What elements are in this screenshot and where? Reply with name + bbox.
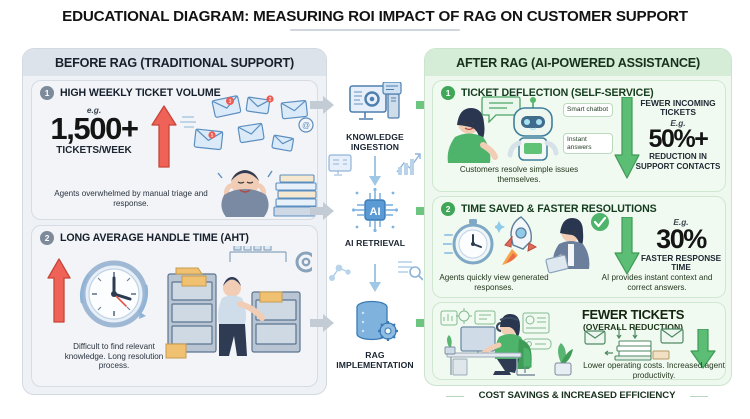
dashboard-icon [327,152,353,178]
arrow-right-gray-icon [310,202,334,220]
filing-cabinet-icon [160,246,312,366]
chip-instant-answers: Instant answers [563,133,613,154]
paper-stack-icon [583,327,687,361]
title-underline [290,29,460,31]
before-rag-header: BEFORE RAG (TRADITIONAL SUPPORT) [23,49,326,76]
pipeline-step-ai-retrieval: AI AI RETRIEVAL [327,188,423,249]
stat-sub: FASTER RESPONSE TIME [639,254,723,273]
card-time-saved: 2 TIME SAVED & FASTER RESOLUTIONS [432,196,726,298]
card-caption-right: AI provides instant context and correct … [591,273,723,292]
chart-icon [395,150,423,178]
card-fewer-tickets: FEWER TICKETS (OVERALL REDUCTION) [432,302,726,380]
diagram-canvas: EDUCATIONAL DIAGRAM: MEASURING ROI IMPAC… [0,0,750,419]
pipeline-step-knowledge-ingestion: KNOWLEDGE INGESTION [327,82,423,153]
arrow-right-gray-icon [310,314,334,332]
svg-text:@: @ [302,121,310,130]
rocket-icon [495,215,539,267]
before-rag-panel: BEFORE RAG (TRADITIONAL SUPPORT) 1 HIGH … [22,48,327,395]
check-badge-icon [589,211,611,233]
chatbot-icon [505,97,561,163]
footer-text: COST SAVINGS & INCREASED EFFICIENCY [479,390,676,401]
stat-headline: FEWER INCOMING TICKETS [633,99,723,117]
page-title-block: EDUCATIONAL DIAGRAM: MEASURING ROI IMPAC… [0,8,750,31]
card-long-handle-time: 2 LONG AVERAGE HANDLE TIME (AHT) [31,225,318,387]
svg-text:5: 5 [211,133,214,139]
clock-icon [72,252,156,336]
up-arrow-red-icon [46,258,72,324]
chevron-down-icon [369,282,381,292]
card-title-row: 2 LONG AVERAGE HANDLE TIME (AHT) [32,226,317,247]
down-arrow-green-icon [613,217,641,275]
badge-number: 1 [40,86,54,100]
svg-text:3: 3 [229,99,232,105]
card-ticket-deflection: 1 TICKET DEFLECTION (SELF-SERVICE) [432,80,726,192]
ai-chip-icon: AI [352,188,398,232]
database-gear-icon [349,298,401,344]
card-caption: Difficult to find relevant knowledge. Lo… [52,342,176,371]
arrow-right-gray-icon [310,96,334,114]
stat-unit: TICKETS/WEEK [38,145,150,157]
card-caption: Customers resolve simple issues themselv… [439,165,599,184]
card-title-text: LONG AVERAGE HANDLE TIME (AHT) [60,232,249,244]
stat-sub: REDUCTION IN SUPPORT CONTACTS [633,152,723,170]
agent-desk-icon [437,307,587,377]
badge-number: 1 [441,86,455,100]
card-caption-left: Agents quickly view generated responses. [439,273,549,292]
monitor-gear-icon [347,82,403,126]
footer-rule-left [446,396,464,398]
pipeline-step-rag-implementation: RAG IMPLEMENTATION [327,298,423,371]
stopwatch-icon [443,217,497,267]
pipeline-step-label: RAG IMPLEMENTATION [327,351,423,371]
ticket-volume-stat: e.g. 1,500+ TICKETS/WEEK [38,105,150,156]
stat-value: 1,500+ [38,115,150,144]
footer-banner: COST SAVINGS & INCREASED EFFICIENCY [424,390,730,401]
after-rag-panel: AFTER RAG (AI-POWERED ASSISTANCE) 1 TICK… [424,48,732,386]
badge-number: 2 [441,202,455,216]
deflection-stat: FEWER INCOMING TICKETS E.g. 50%+ REDUCTI… [633,99,723,171]
chip-smart-chatbot: Smart chatbot [563,103,613,117]
after-rag-header: AFTER RAG (AI-POWERED ASSISTANCE) [425,49,731,76]
up-arrow-red-icon [150,105,178,169]
svg-text:AI: AI [370,206,381,218]
card-caption: Lower operating costs. Increased agent p… [579,361,726,380]
document-search-icon [395,258,423,284]
rag-pipeline: KNOWLEDGE INGESTION AI [327,60,423,390]
card-high-ticket-volume: 1 HIGH WEEKLY TICKET VOLUME e.g. 1,500+ … [31,80,318,220]
stressed-agent-icon [210,165,280,219]
pipeline-step-label: AI RETRIEVAL [327,239,423,249]
badge-number: 2 [40,231,54,245]
page-title: EDUCATIONAL DIAGRAM: MEASURING ROI IMPAC… [0,8,750,25]
heading-main: FEWER TICKETS [581,307,685,322]
card-caption: Agents overwhelmed by manual triage and … [46,189,216,208]
svg-text:2: 2 [269,97,272,103]
stat-value: 30% [639,227,723,252]
chevron-down-icon [369,176,381,186]
stat-value: 50%+ [633,128,723,151]
footer-rule-right [690,396,708,398]
network-nodes-icon [327,260,353,284]
time-saved-stat: E.g. 30% FASTER RESPONSE TIME [639,217,723,273]
